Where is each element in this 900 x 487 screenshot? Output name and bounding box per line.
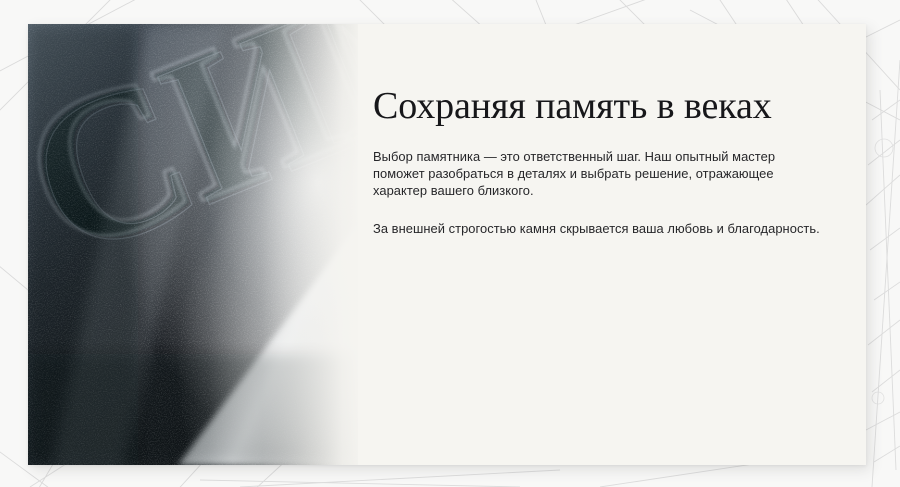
slide-paragraph-1: Выбор памятника — это ответственный шаг.… [373,148,825,200]
slide-root: СИМ СИМ СИМ [0,0,900,487]
presentation-slide-card: СИМ СИМ СИМ [28,24,866,465]
slide-paragraph-2: За внешней строгостью камня скрывается в… [373,220,825,237]
slide-text-column: Сохраняя память в веках Выбор памятника … [373,84,828,237]
slide-heading: Сохраняя память в веках [373,84,828,128]
granite-engraving-photo: СИМ СИМ СИМ [28,24,358,465]
